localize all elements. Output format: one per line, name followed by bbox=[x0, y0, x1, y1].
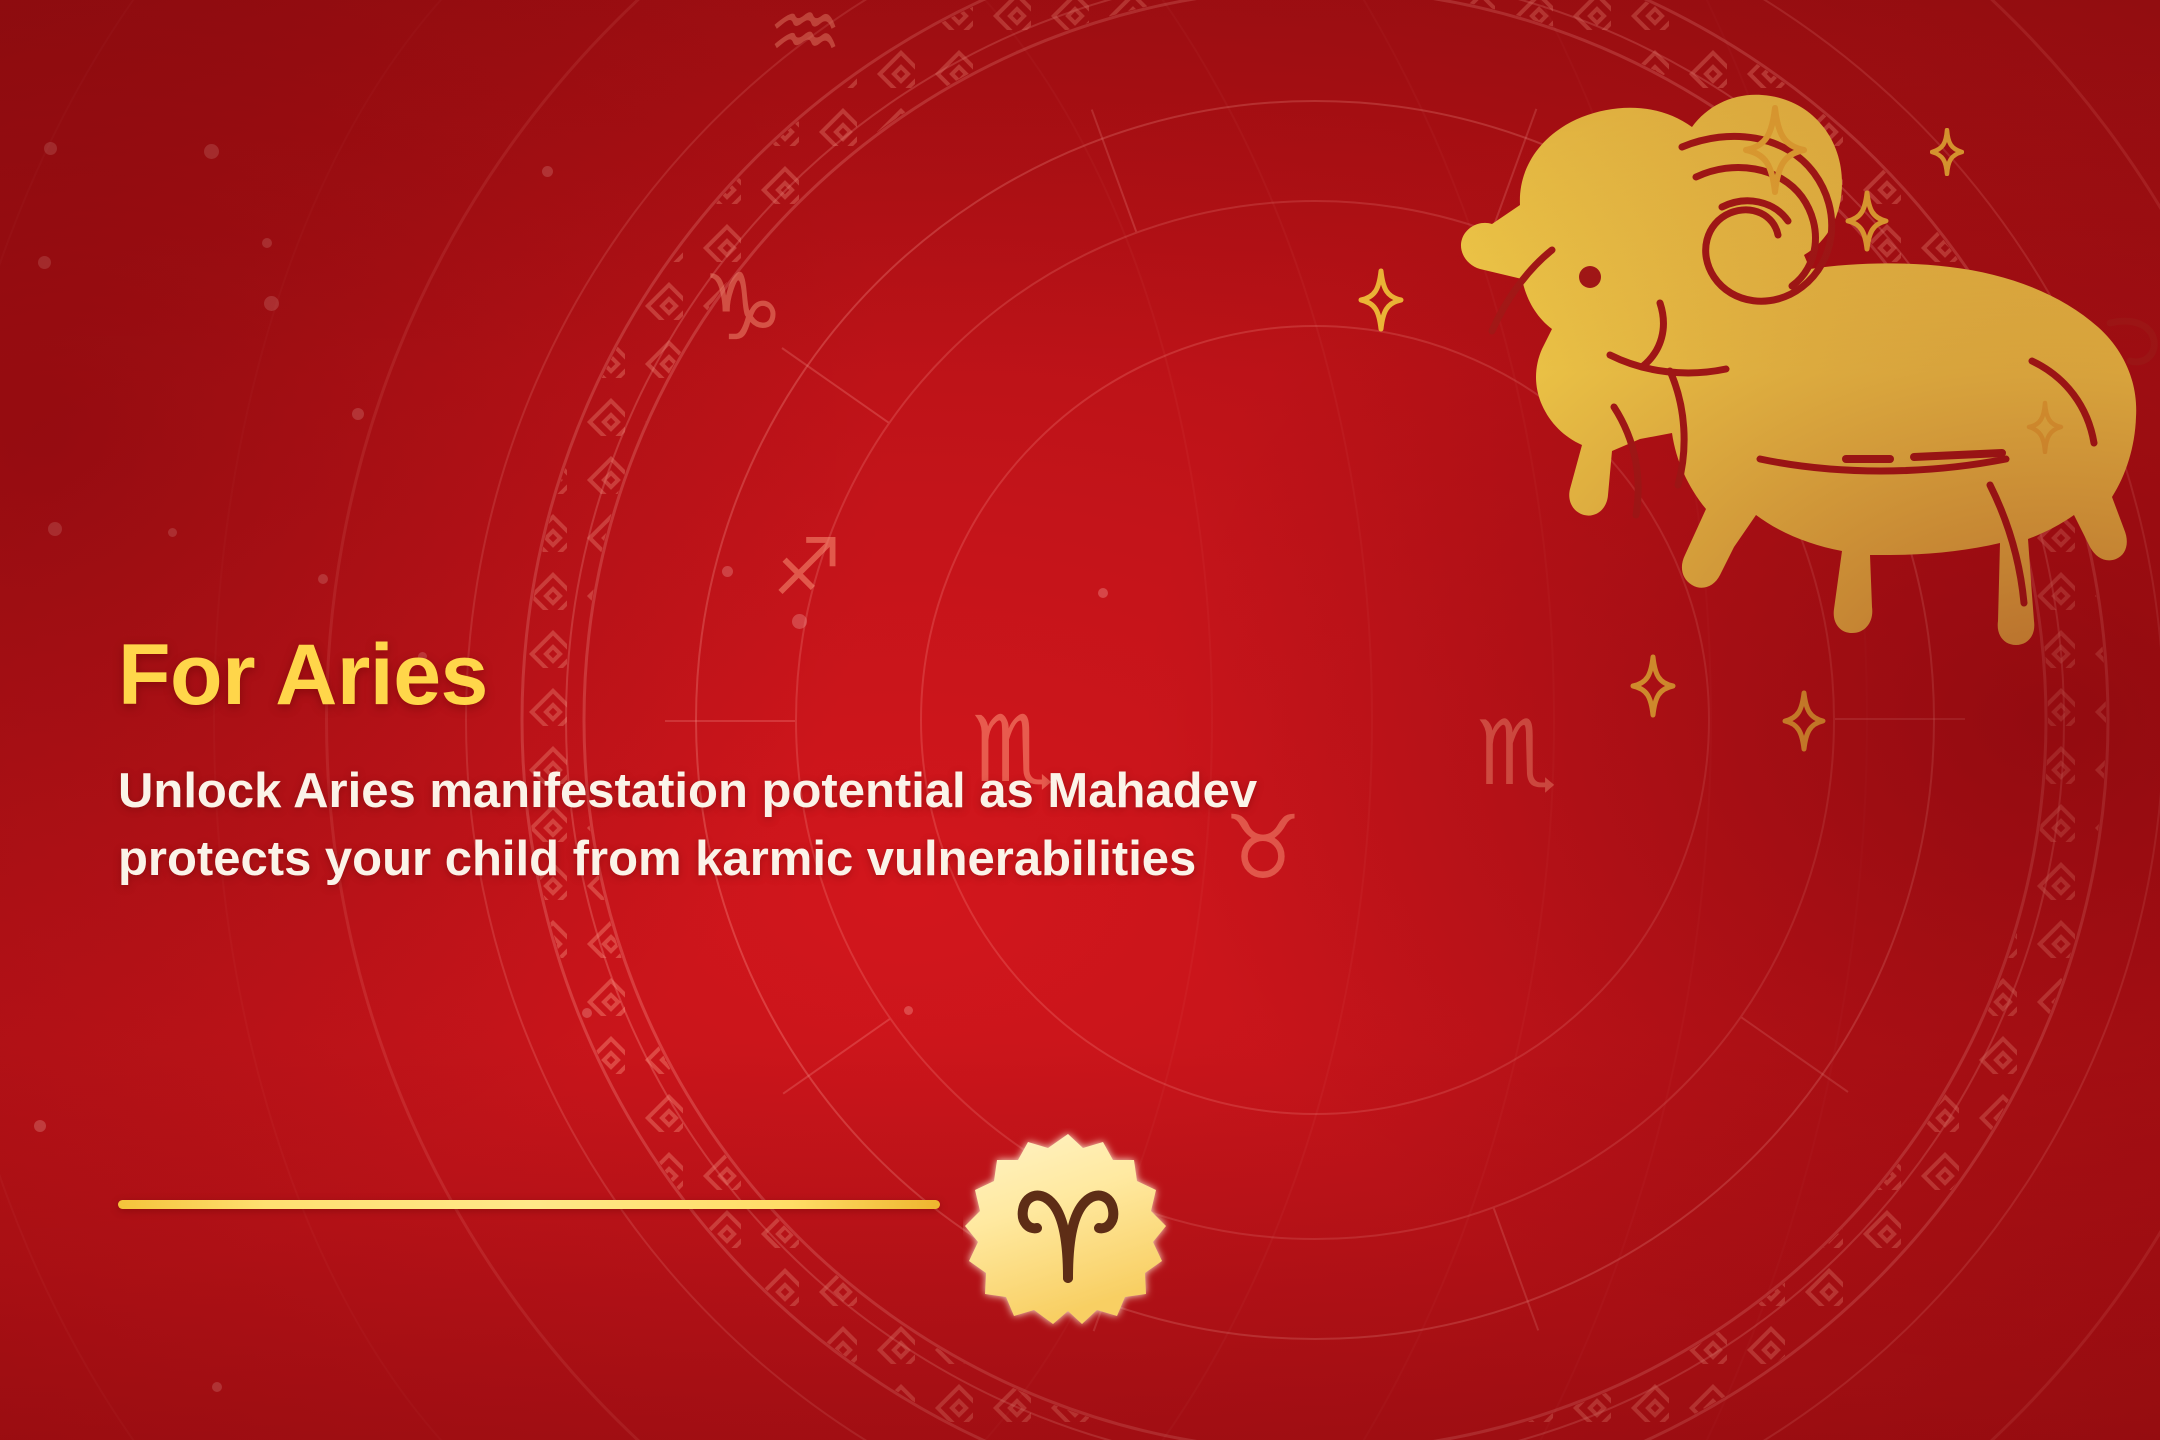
banner-root: ♒ ♑ ♐ ♏ ♉ ♏ bbox=[0, 0, 2160, 1440]
subtitle-text: Unlock Aries manifestation potential as … bbox=[118, 758, 1278, 893]
gold-divider-rule bbox=[118, 1200, 940, 1209]
text-block: For Aries Unlock Aries manifestation pot… bbox=[118, 630, 1298, 894]
aries-seal-badge[interactable] bbox=[963, 1128, 1173, 1338]
page-title: For Aries bbox=[118, 630, 1298, 720]
